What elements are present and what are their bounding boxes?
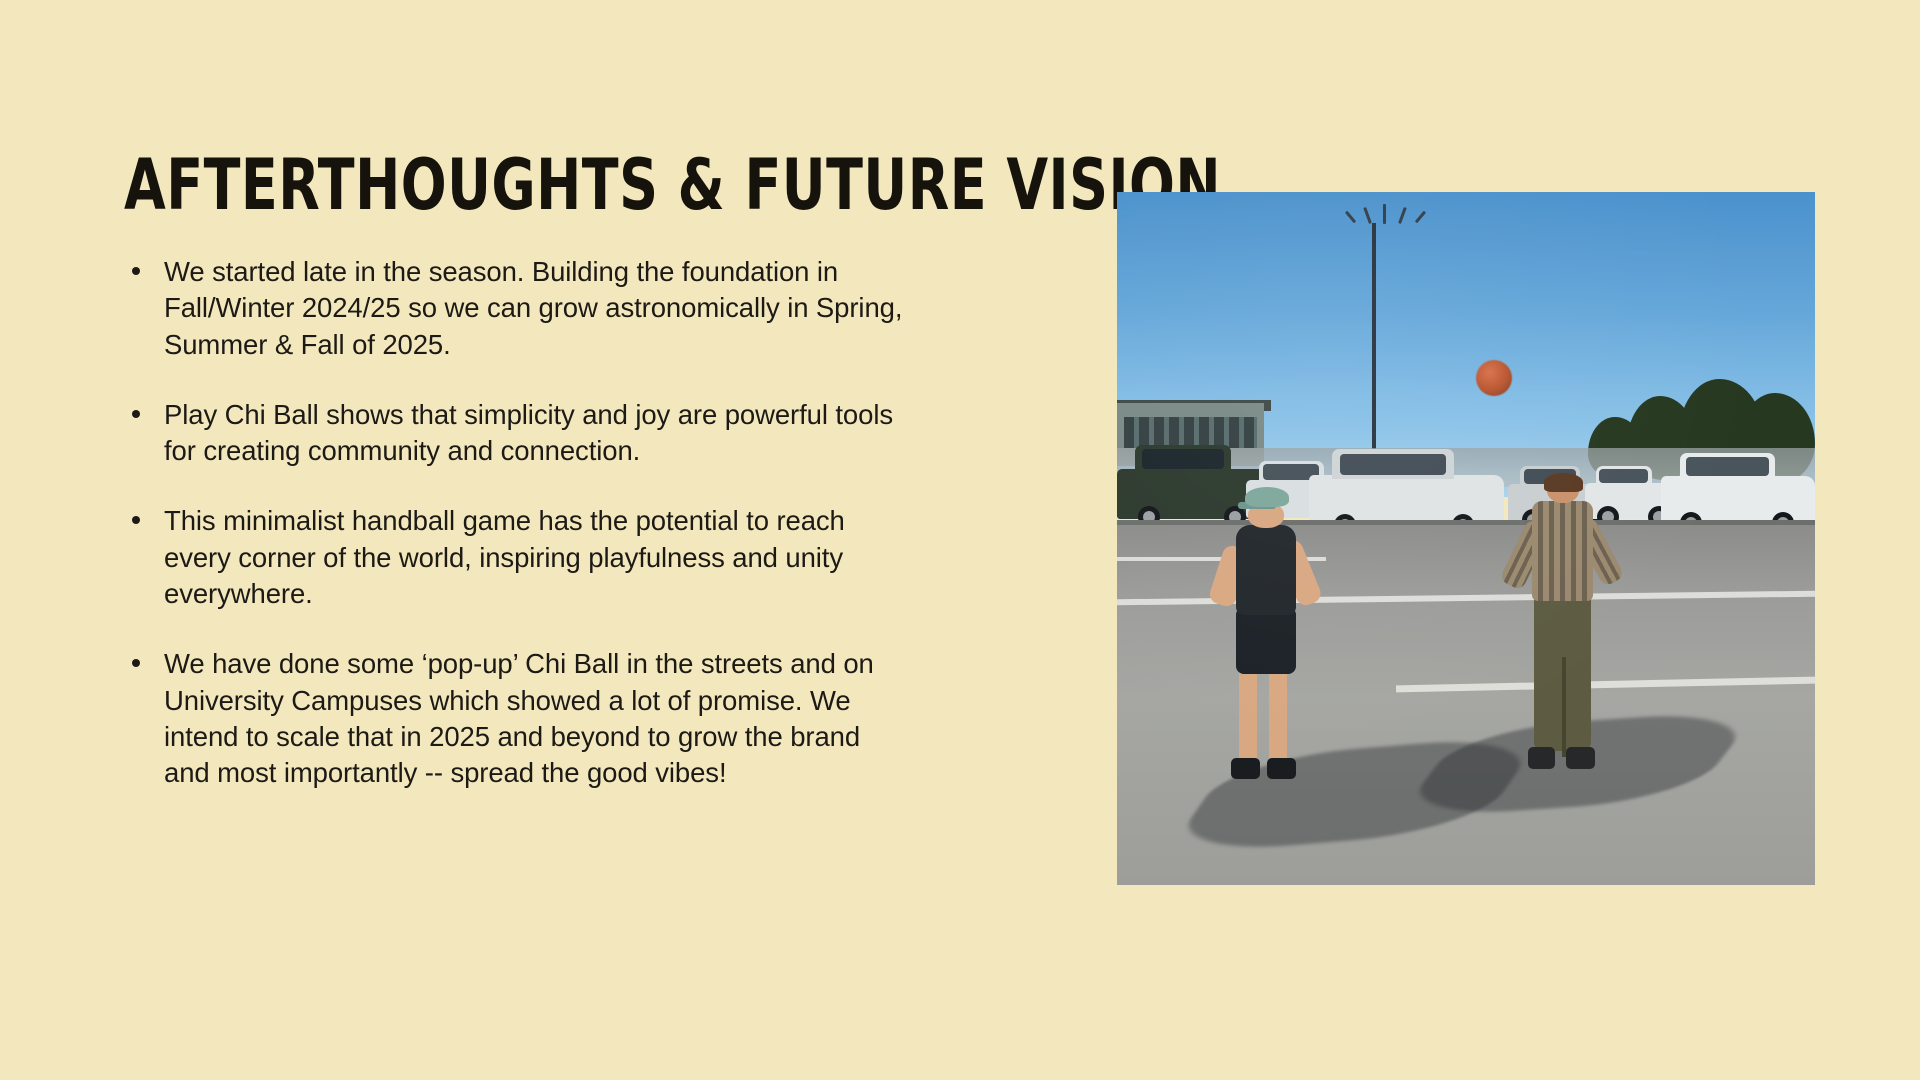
- bullet-text: We have done some ‘pop-up’ Chi Ball in t…: [164, 646, 904, 791]
- chi-ball: [1476, 360, 1512, 396]
- bullet-text: Play Chi Ball shows that simplicity and …: [164, 397, 904, 470]
- bullet-dot-icon: [132, 659, 140, 667]
- slide-text-column: AFTERTHOUGHTS & FUTURE VISION We started…: [124, 150, 904, 792]
- presentation-slide: AFTERTHOUGHTS & FUTURE VISION We started…: [0, 0, 1920, 1080]
- bullet-text: This minimalist handball game has the po…: [164, 503, 904, 612]
- list-item: We have done some ‘pop-up’ Chi Ball in t…: [124, 646, 904, 791]
- light-pole-fixture-icon: [1349, 210, 1426, 224]
- building-windows: [1124, 417, 1257, 449]
- player-left: [1211, 487, 1323, 785]
- bullet-dot-icon: [132, 516, 140, 524]
- list-item: This minimalist handball game has the po…: [124, 503, 904, 612]
- slide-photo: [1117, 192, 1815, 885]
- chi-ball-photo-image: [1117, 192, 1815, 885]
- list-item: We started late in the season. Building …: [124, 254, 904, 363]
- bullet-dot-icon: [132, 410, 140, 418]
- list-item: Play Chi Ball shows that simplicity and …: [124, 397, 904, 470]
- page-title: AFTERTHOUGHTS & FUTURE VISION: [124, 150, 826, 221]
- bullet-list: We started late in the season. Building …: [124, 254, 904, 792]
- parked-vehicle-truck: [1661, 476, 1815, 525]
- player-right: [1511, 476, 1616, 788]
- bullet-dot-icon: [132, 267, 140, 275]
- bullet-text: We started late in the season. Building …: [164, 254, 904, 363]
